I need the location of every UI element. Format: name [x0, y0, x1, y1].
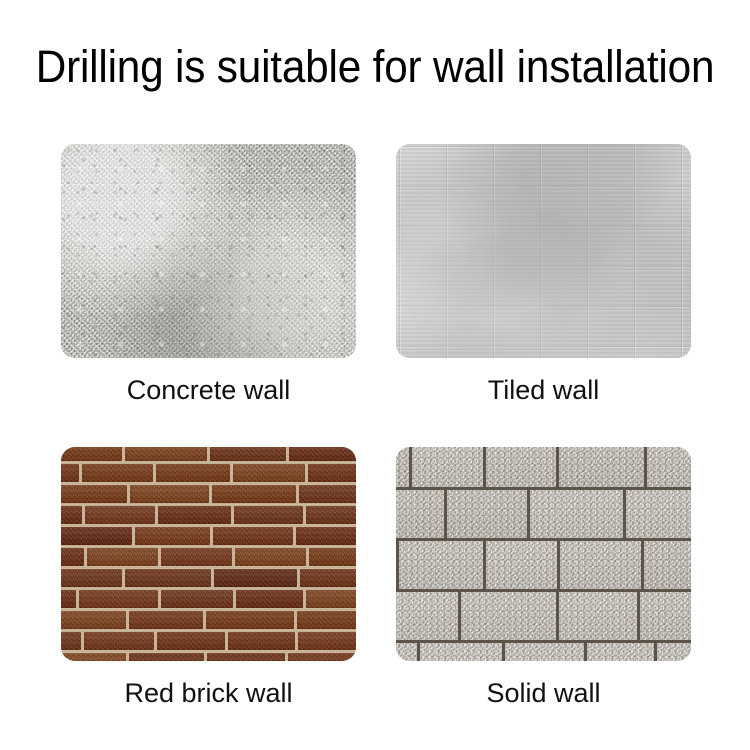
brick — [61, 590, 76, 608]
brick — [129, 653, 204, 661]
brick — [84, 632, 154, 650]
concrete-texture — [61, 144, 356, 358]
stone-block — [412, 447, 483, 487]
stone-block — [626, 490, 691, 538]
brick — [236, 590, 303, 608]
stone-block — [396, 490, 444, 538]
infographic-page: Drilling is suitable for wall installati… — [0, 0, 750, 750]
stone-course — [396, 592, 691, 640]
brick-course — [61, 447, 356, 461]
wall-card-solid[interactable]: Solid wall — [396, 447, 691, 709]
stone-block — [559, 447, 644, 487]
brick — [157, 632, 225, 650]
brick — [61, 527, 132, 545]
brick — [61, 506, 82, 524]
stone-block — [587, 643, 654, 661]
brick — [61, 447, 122, 461]
stone-block — [530, 490, 623, 538]
brick — [61, 611, 126, 629]
tiled-wall-image — [396, 144, 691, 358]
brick — [79, 590, 158, 608]
stone-block — [447, 490, 527, 538]
stone-block — [486, 541, 558, 589]
wall-card-caption: Concrete wall — [61, 374, 356, 406]
brick — [289, 447, 356, 461]
brick-course-group — [61, 447, 356, 661]
tiled-texture — [396, 144, 691, 358]
brick-course — [61, 464, 356, 482]
brick — [213, 527, 293, 545]
brick — [233, 464, 305, 482]
stone-block — [560, 541, 640, 589]
brick-course — [61, 506, 356, 524]
solid-stone-texture — [396, 447, 691, 661]
brick-course — [61, 590, 356, 608]
red-brick-texture — [61, 447, 356, 661]
brick — [207, 653, 285, 661]
stone-block — [486, 447, 556, 487]
brick — [125, 569, 211, 587]
brick-course — [61, 485, 356, 503]
brick — [82, 464, 153, 482]
stone-block — [505, 643, 584, 661]
brick — [210, 447, 285, 461]
brick — [309, 548, 356, 566]
brick — [158, 506, 231, 524]
stone-block — [396, 447, 409, 487]
brick — [61, 485, 127, 503]
brick — [214, 569, 297, 587]
brick — [288, 653, 356, 661]
brick — [161, 590, 233, 608]
brick — [85, 506, 155, 524]
brick-course — [61, 611, 356, 629]
brick — [298, 632, 356, 650]
brick — [135, 527, 209, 545]
stone-block — [644, 541, 691, 589]
brick-course — [61, 632, 356, 650]
brick — [235, 548, 306, 566]
brick-course — [61, 569, 356, 587]
stone-course — [396, 643, 691, 661]
brick — [161, 548, 232, 566]
brick — [296, 527, 356, 545]
brick — [299, 485, 356, 503]
brick — [129, 611, 203, 629]
stone-course — [396, 490, 691, 538]
stone-block — [640, 592, 691, 640]
concrete-wall-image — [61, 144, 356, 358]
solid-wall-image — [396, 447, 691, 661]
brick — [61, 632, 81, 650]
wall-card-caption: Solid wall — [396, 677, 691, 709]
stone-block — [420, 643, 502, 661]
stone-course-group — [396, 447, 691, 661]
stone-course — [396, 447, 691, 487]
brick — [300, 569, 357, 587]
brick — [297, 611, 356, 629]
stone-block — [396, 643, 417, 661]
brick — [206, 611, 294, 629]
brick — [125, 447, 207, 461]
brick — [228, 632, 295, 650]
wall-card-caption: Tiled wall — [396, 374, 691, 406]
brick — [61, 569, 122, 587]
page-title: Drilling is suitable for wall installati… — [23, 42, 728, 92]
stone-block — [399, 541, 482, 589]
brick — [61, 653, 126, 661]
brick — [306, 590, 356, 608]
stone-block — [461, 592, 556, 640]
brick — [156, 464, 230, 482]
brick — [234, 506, 303, 524]
stone-block — [559, 592, 637, 640]
brick-course — [61, 527, 356, 545]
brick-course — [61, 548, 356, 566]
stone-course — [396, 541, 691, 589]
brick — [87, 548, 158, 566]
red-brick-wall-image — [61, 447, 356, 661]
brick — [61, 548, 84, 566]
stone-block — [396, 592, 458, 640]
brick — [130, 485, 209, 503]
wall-card-concrete[interactable]: Concrete wall — [61, 144, 356, 406]
brick — [212, 485, 296, 503]
brick-course — [61, 653, 356, 661]
stone-block — [647, 447, 691, 487]
stone-block — [657, 643, 691, 661]
brick — [306, 506, 356, 524]
wall-card-tiled[interactable]: Tiled wall — [396, 144, 691, 406]
wall-card-red-brick[interactable]: Red brick wall — [61, 447, 356, 709]
wall-type-grid: Concrete wall Tiled wall Red brick wall — [0, 130, 750, 730]
brick — [61, 464, 79, 482]
wall-card-caption: Red brick wall — [61, 677, 356, 709]
brick — [308, 464, 356, 482]
